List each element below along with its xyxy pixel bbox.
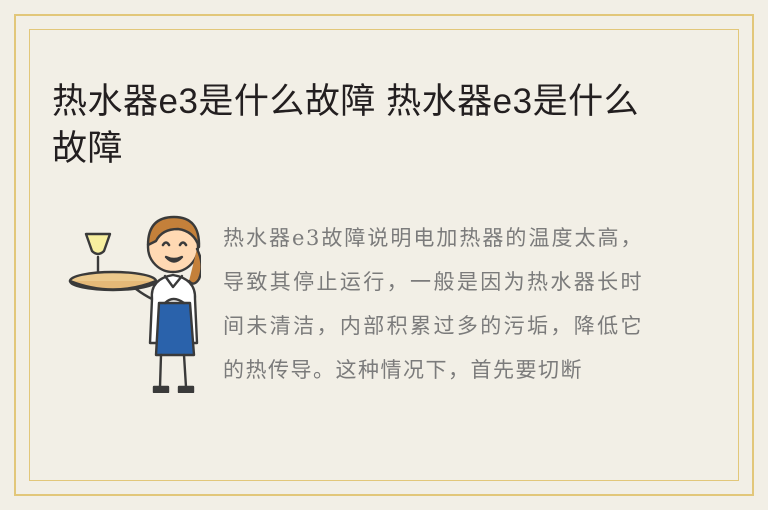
waitress-with-wine-tray-icon: [66, 203, 201, 393]
article-paragraph: 热水器e3故障说明电加热器的温度太高，导致其停止运行，一般是因为热水器长时间未清…: [223, 216, 643, 392]
article-content: 热水器e3是什么故障 热水器e3是什么故障: [52, 55, 716, 455]
article-page: 热水器e3是什么故障 热水器e3是什么故障: [0, 0, 768, 510]
page-title: 热水器e3是什么故障 热水器e3是什么故障: [52, 78, 672, 172]
article-body: 热水器e3故障说明电加热器的温度太高，导致其停止运行，一般是因为热水器长时间未清…: [52, 195, 716, 413]
